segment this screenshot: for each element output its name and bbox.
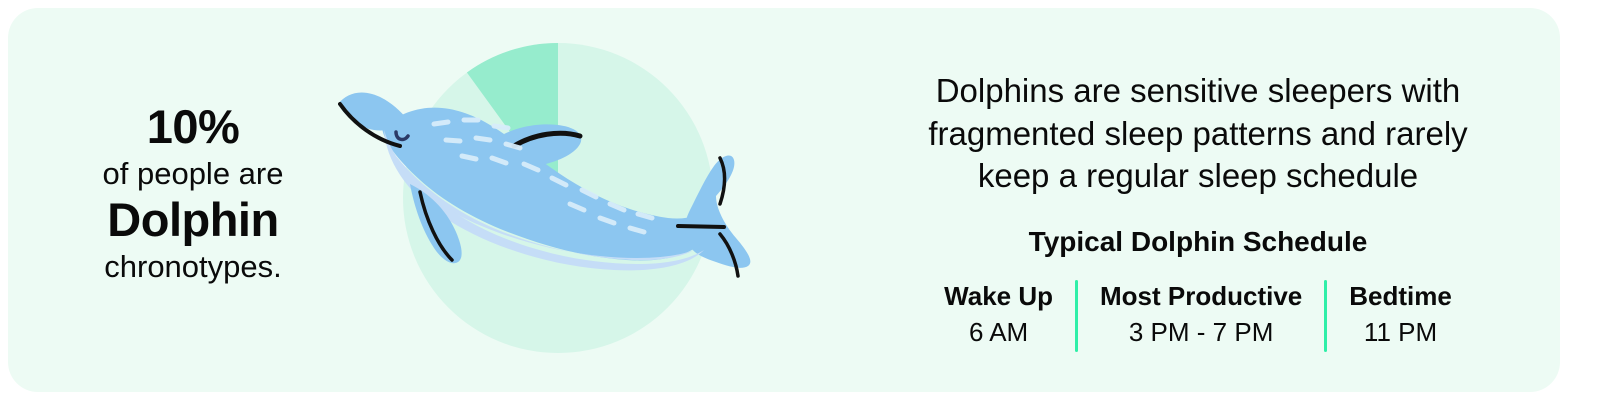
schedule-value: 3 PM - 7 PM [1100, 316, 1302, 350]
schedule-item-wake-up: Wake Up 6 AM [922, 280, 1075, 352]
infographic-card: 10% of people are Dolphin chronotypes. [8, 8, 1560, 392]
stat-block: 10% of people are Dolphin chronotypes. [28, 100, 358, 287]
schedule-title: Typical Dolphin Schedule [888, 226, 1508, 258]
dolphin-pie-illustration [338, 8, 798, 392]
right-panel: Dolphins are sensitive sleepers with fra… [888, 70, 1508, 352]
description-text: Dolphins are sensitive sleepers with fra… [888, 70, 1508, 198]
schedule-label: Most Productive [1100, 280, 1302, 313]
description-line-3: keep a regular sleep schedule [888, 155, 1508, 198]
percent-value: 10% [28, 100, 358, 154]
schedule-row: Wake Up 6 AM Most Productive 3 PM - 7 PM… [888, 280, 1508, 352]
schedule-label: Wake Up [944, 280, 1053, 313]
chronotype-name: Dolphin [28, 193, 358, 247]
schedule-value: 11 PM [1349, 316, 1452, 350]
percent-caption: of people are [28, 154, 358, 194]
illustration-area [338, 8, 798, 392]
dolphin-rostrum [338, 92, 408, 130]
schedule-label: Bedtime [1349, 280, 1452, 313]
description-line-2: fragmented sleep patterns and rarely [888, 113, 1508, 156]
schedule-item-most-productive: Most Productive 3 PM - 7 PM [1078, 280, 1324, 352]
dolphin-tail-line-center [678, 226, 724, 227]
schedule-item-bedtime: Bedtime 11 PM [1327, 280, 1474, 352]
chronotype-caption: chronotypes. [28, 247, 358, 287]
schedule-value: 6 AM [944, 316, 1053, 350]
description-line-1: Dolphins are sensitive sleepers with [888, 70, 1508, 113]
